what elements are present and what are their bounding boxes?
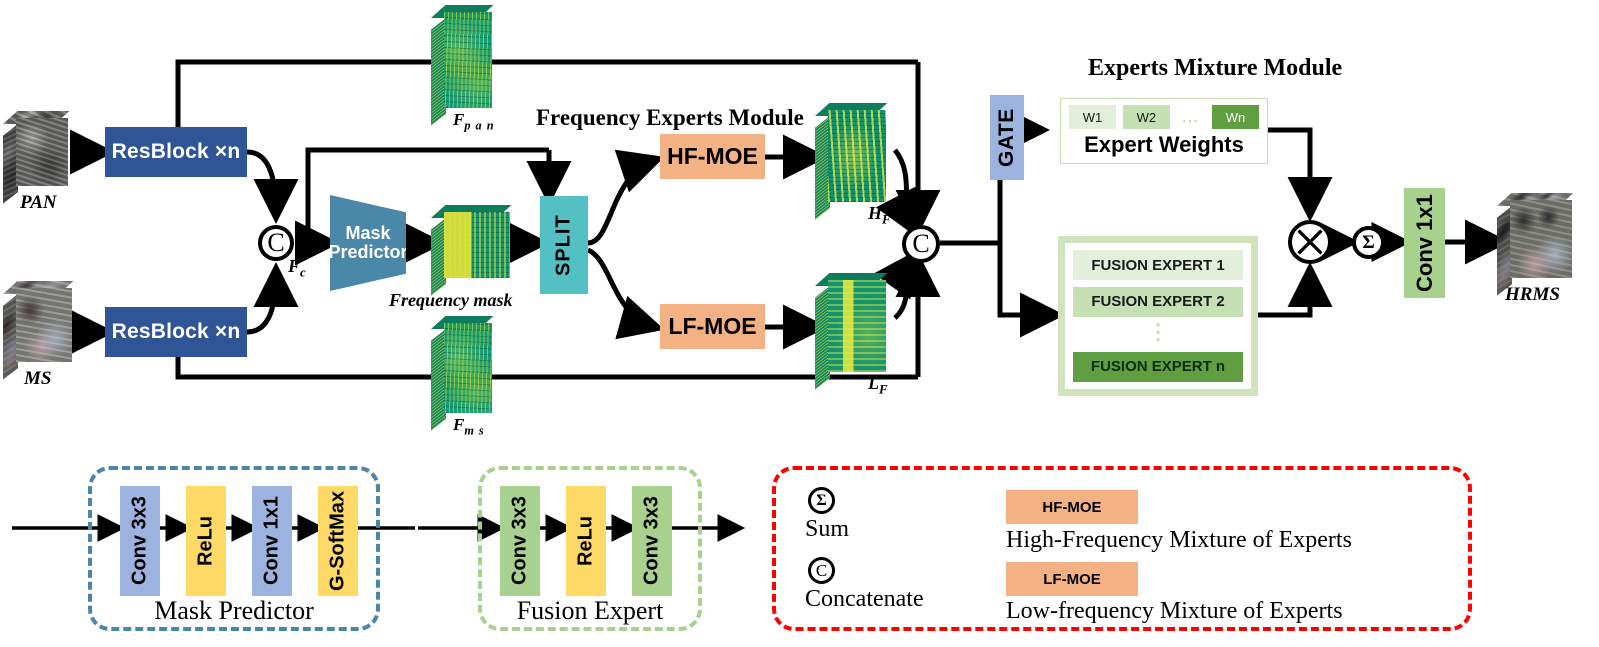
sum-node: Σ <box>1352 226 1385 259</box>
ms-label: MS <box>24 368 51 390</box>
expert-weights-chips: W1 W2 ... Wn <box>1069 105 1259 129</box>
ms-input-image <box>16 288 72 362</box>
weight-chips-ellipsis: ... <box>1177 105 1205 129</box>
pan-label: PAN <box>20 192 57 214</box>
mask-predictor-line1: Mask <box>328 224 407 243</box>
hf-moe-legend-text: High-Frequency Mixture of Experts <box>1006 527 1352 554</box>
hf-front-face <box>828 110 886 202</box>
mask-predictor-stage-conv1x1[interactable]: Conv 1x1 <box>252 486 292 596</box>
pan-input-image <box>16 118 68 186</box>
pan-front-face <box>16 118 68 186</box>
f-ms-base: F <box>453 415 464 434</box>
f-pan-front-face <box>444 12 492 108</box>
hf-label: HF <box>868 203 892 228</box>
expert-weights-title: Expert Weights <box>1069 132 1259 158</box>
f-pan-subscript: p a n <box>464 118 494 132</box>
sum-legend-text: Sum <box>805 516 849 543</box>
fusion-expert-2[interactable]: FUSION EXPERT 2 <box>1073 287 1243 317</box>
sum-legend-icon: Σ <box>808 487 835 514</box>
multiply-icon <box>1292 220 1328 264</box>
fusion-expert-stage-relu[interactable]: ReLu <box>566 486 606 596</box>
weight-chip-w2[interactable]: W2 <box>1123 105 1170 129</box>
mask-predictor-stage-relu[interactable]: ReLu <box>186 486 226 596</box>
f-ms-label: Fm s <box>453 415 485 438</box>
fusion-expert-1[interactable]: FUSION EXPERT 1 <box>1073 250 1243 280</box>
weight-chip-w1[interactable]: W1 <box>1069 105 1116 129</box>
frequency-mask-tensor <box>444 212 510 278</box>
mask-predictor-stage-conv3x3[interactable]: Conv 3x3 <box>120 486 160 596</box>
hf-moe-legend-chip: HF-MOE <box>1006 490 1138 524</box>
fc-base: F <box>288 256 300 276</box>
resblock-ms[interactable]: ResBlock ×n <box>105 307 247 357</box>
hrms-label: HRMS <box>1505 284 1560 306</box>
multiply-node <box>1288 220 1332 264</box>
fusion-expert-n[interactable]: FUSION EXPERT n <box>1073 352 1243 382</box>
hf-base: H <box>868 203 882 223</box>
freq-mask-front-face <box>444 212 510 278</box>
lf-label: LF <box>868 373 889 398</box>
output-conv-block[interactable]: Conv 1x1 <box>1404 188 1445 298</box>
lf-subscript: F <box>879 382 889 397</box>
ms-front-face <box>16 288 72 362</box>
resblock-pan[interactable]: ResBlock ×n <box>105 127 247 177</box>
f-ms-front-face <box>444 323 492 413</box>
weight-chip-wn[interactable]: Wn <box>1212 105 1259 129</box>
fusion-experts-vertical-dots: ⋮ <box>1073 323 1243 345</box>
lf-front-face <box>828 280 886 372</box>
concatenate-legend-icon: C <box>808 557 835 584</box>
lf-base: L <box>868 373 879 393</box>
fusion-expert-legend-caption: Fusion Expert <box>478 596 702 626</box>
frequency-experts-module-title: Frequency Experts Module <box>536 105 804 131</box>
fusion-expert-stage-conv3x3-a[interactable]: Conv 3x3 <box>500 486 540 596</box>
gate-block[interactable]: GATE <box>990 95 1024 180</box>
fc-subscript: c <box>300 265 307 280</box>
mask-predictor-legend-caption: Mask Predictor <box>88 596 380 626</box>
mask-predictor-block[interactable]: Mask Predictor <box>330 195 406 291</box>
fusion-expert-stage-conv3x3-b[interactable]: Conv 3x3 <box>632 486 672 596</box>
architecture-diagram: PAN MS ResBlock ×n ResBlock ×n C Fc Mask… <box>0 0 1599 647</box>
f-pan-base: F <box>453 110 464 129</box>
lf-moe-block[interactable]: LF-MOE <box>660 304 765 349</box>
f-ms-tensor <box>444 323 492 413</box>
mask-predictor-line2: Predictor <box>328 243 407 262</box>
hf-subscript: F <box>882 212 892 227</box>
fc-label: Fc <box>288 256 307 281</box>
f-ms-subscript: m s <box>464 423 484 437</box>
lf-moe-legend-chip: LF-MOE <box>1006 562 1138 596</box>
hrms-output-image <box>1510 200 1572 278</box>
hrms-front-face <box>1510 200 1572 278</box>
hf-moe-block[interactable]: HF-MOE <box>660 134 765 179</box>
hf-tensor <box>828 110 886 202</box>
concatenate-legend-text: Concatenate <box>805 586 924 613</box>
f-pan-tensor <box>444 12 492 108</box>
mask-predictor-text: Mask Predictor <box>328 224 407 262</box>
lf-moe-legend-text: Low-frequency Mixture of Experts <box>1006 598 1343 625</box>
main-concat-node: C <box>902 225 940 263</box>
frequency-mask-label: Frequency mask <box>389 290 513 311</box>
f-pan-label: Fp a n <box>453 110 495 133</box>
experts-mixture-module-title: Experts Mixture Module <box>1088 55 1342 82</box>
expert-weights-panel: W1 W2 ... Wn Expert Weights <box>1060 98 1268 164</box>
lf-tensor <box>828 280 886 372</box>
mask-predictor-stage-gsoftmax[interactable]: G-SoftMax <box>318 486 358 596</box>
split-block[interactable]: SPLIT <box>540 196 588 294</box>
fusion-experts-panel: FUSION EXPERT 1 FUSION EXPERT 2 ⋮ FUSION… <box>1058 236 1258 396</box>
